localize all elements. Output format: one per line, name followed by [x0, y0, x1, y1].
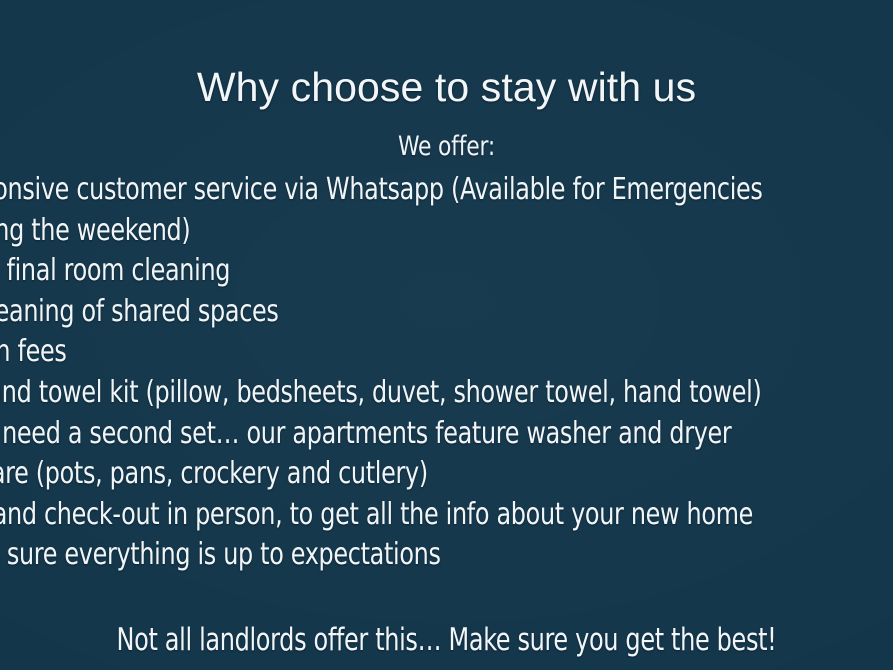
offering-line: Kitchenware (pots, pans, crockery and cu… — [0, 456, 428, 491]
offering-line: even during the weekend) — [0, 213, 190, 248]
offering-line: Very responsive customer service via Wha… — [0, 172, 763, 207]
offering-line: and make sure everything is up to expect… — [0, 537, 441, 572]
offering-line: Check-in and check-out in person, to get… — [0, 497, 753, 532]
offering-line: Weekly cleaning of shared spaces — [0, 294, 279, 329]
offering-line: No hidden fees — [0, 334, 67, 369]
offerings-list: Very responsive customer service via Wha… — [0, 172, 893, 582]
offering-line: Initial and final room cleaning — [0, 253, 230, 288]
offering-line: You won't need a second set… our apartme… — [0, 416, 731, 451]
slide-footer-callout: Not all landlords offer this… Make sure … — [63, 622, 831, 658]
page-title: Why choose to stay with us — [0, 64, 893, 111]
offering-line: Bedding and towel kit (pillow, bedsheets… — [0, 375, 761, 410]
presentation-slide: Why choose to stay with us We offer: Ver… — [0, 0, 893, 670]
slide-subtitle: We offer: — [45, 131, 849, 162]
